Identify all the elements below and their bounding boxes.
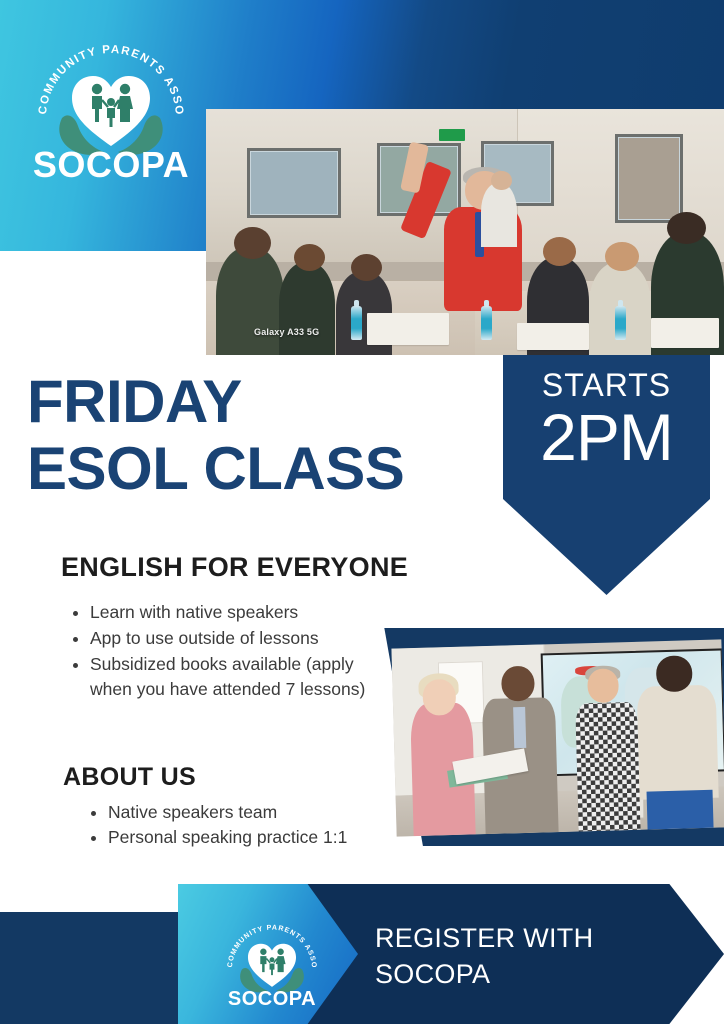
socopa-logo-header: SOMALI COMMUNITY PARENTS ASSOCIATION SOC… <box>22 18 200 190</box>
classroom-photo-top: Galaxy A33 5G <box>206 109 724 355</box>
about-us-heading: ABOUT US <box>63 763 196 792</box>
poster-title: FRIDAY ESOL CLASS <box>27 368 497 502</box>
about-bullet-list: Native speakers team Personal speaking p… <box>86 800 408 850</box>
logo-wordmark: SOCOPA <box>216 988 328 1011</box>
socopa-logo-footer: SOMALI COMMUNITY PARENTS ASSOCIATION SOC… <box>216 908 328 1014</box>
starts-label: STARTS <box>503 369 710 401</box>
register-cta-line-2: SOCOPA <box>375 956 593 992</box>
classroom-photo-middle <box>391 639 724 836</box>
title-line-1: FRIDAY <box>27 368 497 435</box>
title-line-2: ESOL CLASS <box>27 435 497 502</box>
register-cta: REGISTER WITH SOCOPA <box>375 920 593 992</box>
register-cta-line-1: REGISTER WITH <box>375 920 593 956</box>
poster-root: SOMALI COMMUNITY PARENTS ASSOCIATION SOC… <box>0 0 724 1024</box>
features-bullet-list: Learn with native speakers App to use ou… <box>66 600 390 703</box>
list-item: App to use outside of lessons <box>90 626 390 651</box>
list-item: Learn with native speakers <box>90 600 390 625</box>
photo-watermark: Galaxy A33 5G <box>254 327 319 337</box>
logo-wordmark: SOCOPA <box>22 144 200 186</box>
starts-time-banner: STARTS 2PM <box>503 355 710 595</box>
list-item: Personal speaking practice 1:1 <box>108 825 408 850</box>
poster-subtitle: ENGLISH FOR EVERYONE <box>61 552 408 583</box>
list-item: Native speakers team <box>108 800 408 825</box>
start-time-value: 2PM <box>503 403 710 472</box>
list-item: Subsidized books available (apply when y… <box>90 652 390 702</box>
